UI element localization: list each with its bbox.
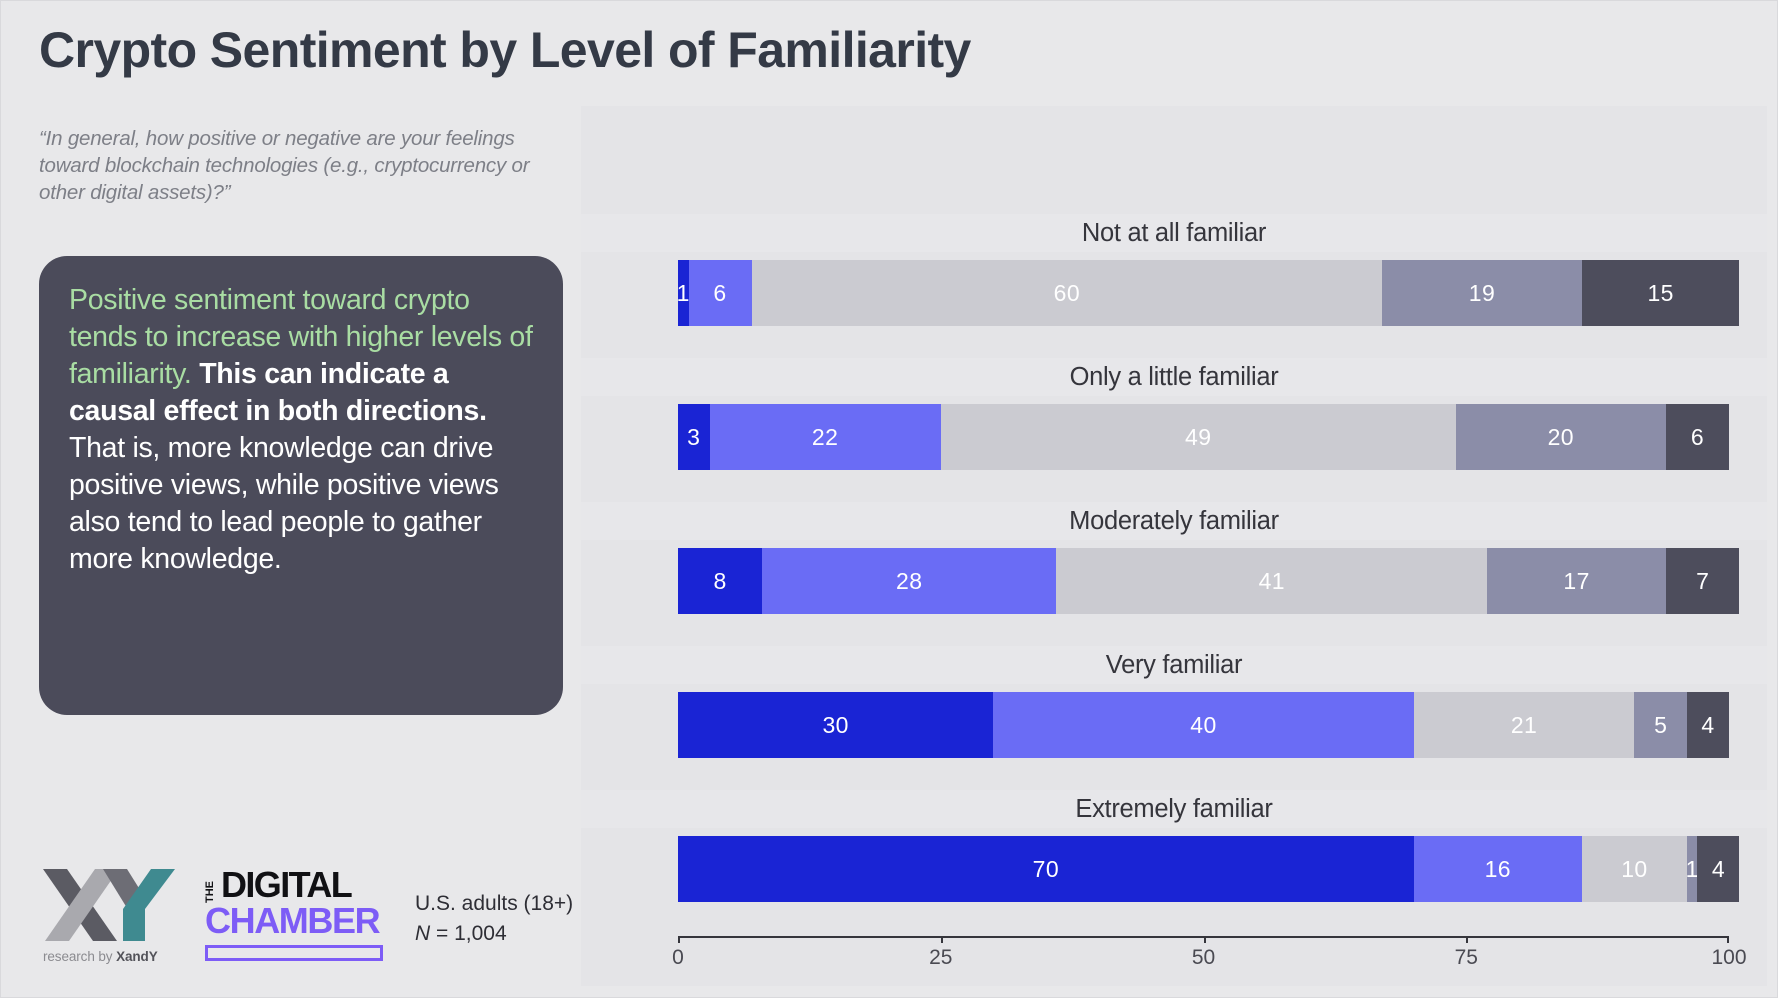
facet-label: Not at all familiar — [1082, 219, 1266, 248]
xandy-logo-caption: research by XandY — [43, 949, 158, 964]
bar-segment[interactable]: 8 — [678, 548, 762, 614]
page-title: Crypto Sentiment by Level of Familiarity — [39, 23, 1339, 78]
bar-segment-value: 6 — [1691, 424, 1704, 451]
bar-segment-value: 8 — [713, 568, 726, 595]
xandy-logo: research by XandY — [39, 863, 179, 973]
bar-segment-value: 7 — [1696, 568, 1709, 595]
facet-strip-0: Not at all familiar — [581, 214, 1767, 252]
tdc-digital-text: DIGITAL — [221, 867, 351, 903]
bar-segment[interactable]: 5 — [1634, 692, 1687, 758]
facet-strip-3: Very familiar — [581, 646, 1767, 684]
bar-segment-value: 41 — [1259, 568, 1285, 595]
bar-segment[interactable]: 49 — [941, 404, 1456, 470]
x-axis-tick-label: 75 — [1455, 946, 1478, 970]
bar-segment[interactable]: 15 — [1582, 260, 1740, 326]
bar-row[interactable]: 82841177 — [678, 548, 1729, 614]
bar-segment[interactable]: 3 — [678, 404, 710, 470]
digital-chamber-logo: THE DIGITAL CHAMBER — [205, 863, 385, 973]
bar-segment[interactable]: 7 — [1666, 548, 1740, 614]
bar-segment[interactable]: 30 — [678, 692, 993, 758]
bar-segment-value: 60 — [1054, 280, 1080, 307]
stacked-bar-plot: Not at all familiar16601915Only a little… — [581, 214, 1767, 934]
bar-segment-value: 17 — [1563, 568, 1589, 595]
bar-segment[interactable]: 28 — [762, 548, 1056, 614]
xandy-mark-icon — [39, 863, 179, 949]
bar-segment-value: 19 — [1469, 280, 1495, 307]
tdc-chamber-text: CHAMBER — [205, 903, 379, 939]
x-axis-tick — [1727, 936, 1729, 943]
bar-segment[interactable]: 1 — [1687, 836, 1698, 902]
facet-strip-1: Only a little familiar — [581, 358, 1767, 396]
bar-segment-value: 4 — [1712, 856, 1725, 883]
facet-label: Extremely familiar — [1075, 795, 1272, 824]
bar-segment-value: 4 — [1701, 712, 1714, 739]
bar-segment-value: 21 — [1511, 712, 1537, 739]
bar-segment[interactable]: 4 — [1687, 692, 1729, 758]
bar-segment-value: 6 — [713, 280, 726, 307]
bar-segment[interactable]: 16 — [1414, 836, 1582, 902]
bar-segment[interactable]: 70 — [678, 836, 1414, 902]
bar-segment-value: 22 — [812, 424, 838, 451]
bar-segment-value: 16 — [1485, 856, 1511, 883]
bar-segment-value: 10 — [1621, 856, 1647, 883]
x-axis-tick-label: 25 — [929, 946, 952, 970]
sample-population: U.S. adults (18+) — [415, 889, 573, 919]
sample-size-value: = 1,004 — [430, 922, 506, 945]
sample-size: N = 1,004 — [415, 919, 573, 949]
bar-row[interactable]: 16601915 — [678, 260, 1729, 326]
survey-question-text: “In general, how positive or negative ar… — [39, 125, 559, 206]
bar-segment-value: 1 — [1687, 856, 1698, 883]
bar-row[interactable]: 70161014 — [678, 836, 1729, 902]
bar-segment[interactable]: 1 — [678, 260, 689, 326]
bar-segment-value: 28 — [896, 568, 922, 595]
bar-segment-value: 30 — [822, 712, 848, 739]
x-axis-tick — [941, 936, 943, 943]
xandy-caption-brand: XandY — [116, 949, 158, 964]
chart-panel: Not at all familiar16601915Only a little… — [581, 106, 1767, 986]
bar-segment[interactable]: 19 — [1382, 260, 1582, 326]
x-axis: 0255075100 — [678, 936, 1729, 978]
bar-segment[interactable]: 20 — [1456, 404, 1666, 470]
bar-segment-value: 3 — [687, 424, 700, 451]
infographic-root: Crypto Sentiment by Level of Familiarity… — [0, 0, 1778, 998]
bar-segment-value: 40 — [1190, 712, 1216, 739]
sample-size-symbol: N — [415, 922, 430, 945]
bar-row[interactable]: 30402154 — [678, 692, 1729, 758]
bar-segment[interactable]: 60 — [752, 260, 1383, 326]
bar-segment[interactable]: 10 — [1582, 836, 1687, 902]
bar-segment[interactable]: 4 — [1697, 836, 1739, 902]
x-axis-tick-label: 50 — [1192, 946, 1215, 970]
bar-segment[interactable]: 40 — [993, 692, 1413, 758]
callout-box: Positive sentiment toward crypto tends t… — [39, 256, 563, 715]
callout-plain-text: That is, more knowledge can drive positi… — [69, 432, 499, 575]
x-axis-tick — [678, 936, 680, 943]
bar-segment-value: 49 — [1185, 424, 1211, 451]
bar-segment[interactable]: 6 — [1666, 404, 1729, 470]
facet-label: Only a little familiar — [1070, 363, 1279, 392]
x-axis-tick-label: 0 — [672, 946, 684, 970]
bar-segment-value: 1 — [678, 280, 689, 307]
facet-strip-4: Extremely familiar — [581, 790, 1767, 828]
bar-segment-value: 20 — [1548, 424, 1574, 451]
tdc-underline-bar — [205, 945, 383, 961]
bar-segment[interactable]: 41 — [1056, 548, 1487, 614]
footer: research by XandY THE DIGITAL CHAMBER U.… — [39, 863, 579, 983]
facet-strip-2: Moderately familiar — [581, 502, 1767, 540]
bar-segment[interactable]: 22 — [710, 404, 941, 470]
bar-segment[interactable]: 6 — [689, 260, 752, 326]
x-axis-tick-label: 100 — [1711, 946, 1746, 970]
facet-label: Moderately familiar — [1069, 507, 1279, 536]
sample-note: U.S. adults (18+) N = 1,004 — [415, 889, 573, 949]
xandy-caption-prefix: research by — [43, 949, 116, 964]
bar-segment-value: 5 — [1654, 712, 1667, 739]
facet-label: Very familiar — [1106, 651, 1242, 680]
tdc-the-text: THE — [205, 869, 215, 903]
bar-segment[interactable]: 21 — [1414, 692, 1635, 758]
bar-row[interactable]: 32249206 — [678, 404, 1729, 470]
x-axis-tick — [1466, 936, 1468, 943]
bar-segment-value: 15 — [1647, 280, 1673, 307]
x-axis-tick — [1204, 936, 1206, 943]
bar-segment[interactable]: 17 — [1487, 548, 1666, 614]
bar-segment-value: 70 — [1033, 856, 1059, 883]
